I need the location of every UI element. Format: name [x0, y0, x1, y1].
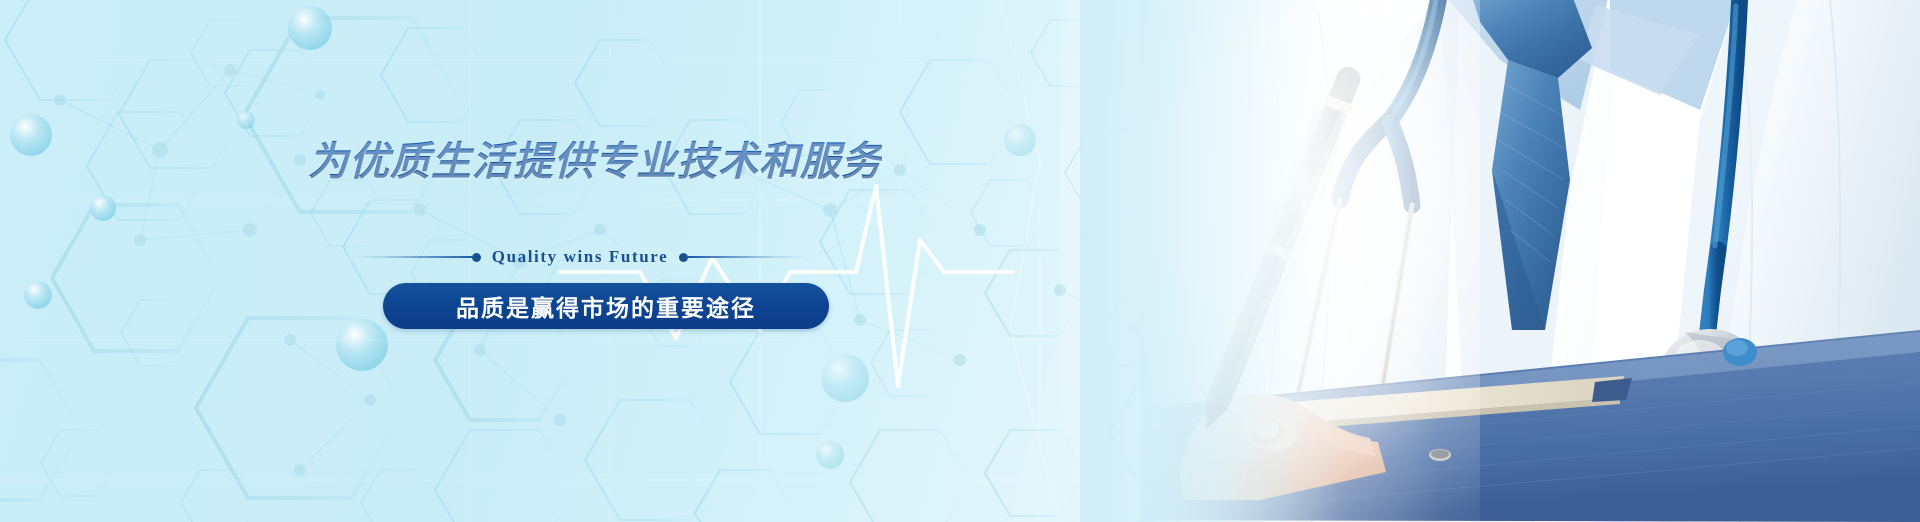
tagline-en: Quality wins Future: [481, 247, 680, 267]
tagline-pill-label: 品质是赢得市场的重要途径: [456, 289, 756, 323]
divider-line-left: [350, 256, 472, 258]
divider-dot-left: [472, 253, 481, 262]
divider-dot-right: [679, 253, 688, 262]
ecg-heartbeat-line: [0, 0, 1920, 522]
divider: Quality wins Future: [350, 247, 810, 267]
divider-line-right: [688, 256, 810, 258]
hero-banner: 为优质生活提供专业技术和服务 Quality wins Future 品质是赢得…: [0, 0, 1920, 522]
page-title: 为优质生活提供专业技术和服务: [308, 129, 882, 187]
tagline-pill[interactable]: 品质是赢得市场的重要途径: [383, 283, 829, 329]
